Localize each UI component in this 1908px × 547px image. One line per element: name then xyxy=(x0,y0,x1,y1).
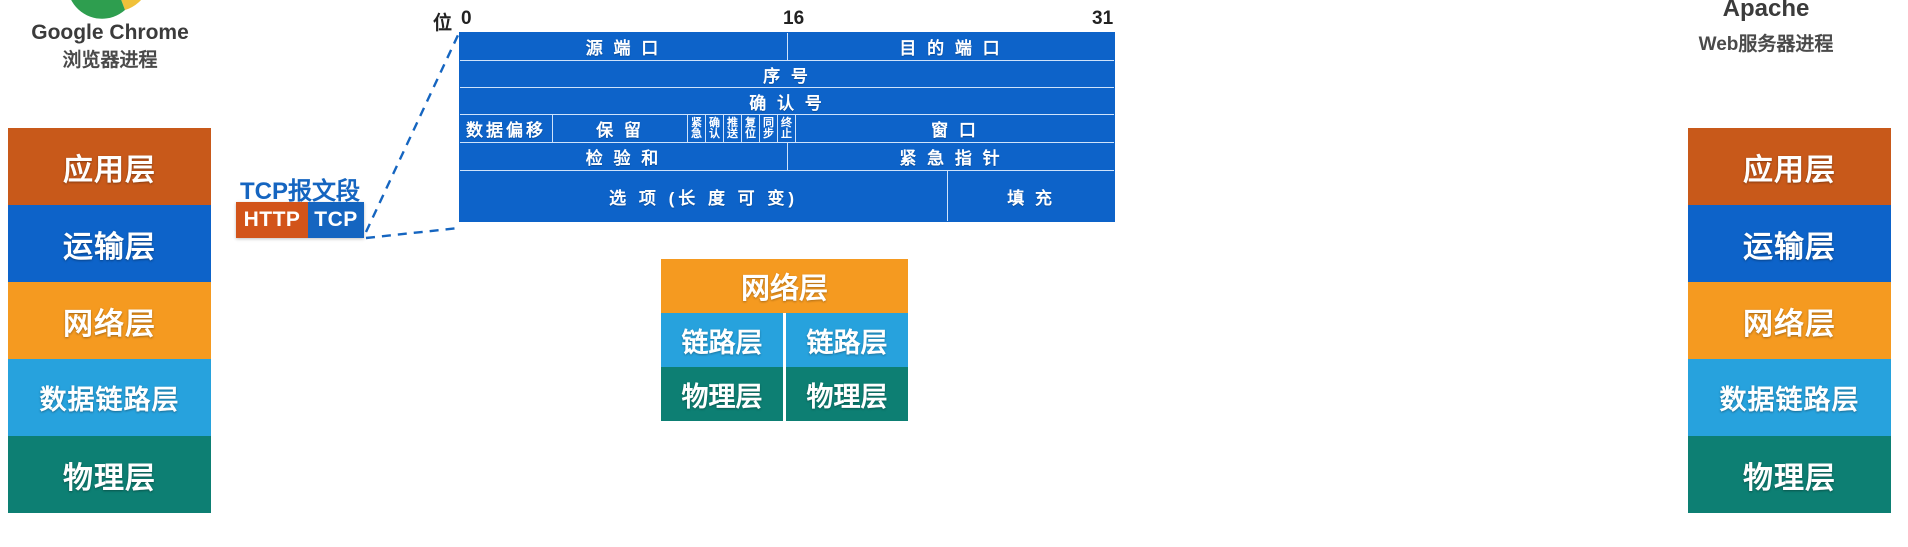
flag-urg-bottom: 急 xyxy=(691,129,702,140)
flag-fin-top: 终 xyxy=(781,118,792,129)
flag-rst: 复 位 xyxy=(741,115,759,142)
router-layer-physical-right[interactable]: 物理层 xyxy=(786,367,908,421)
tcp-header-row-ports: 源 端 口 目 的 端 口 xyxy=(460,33,1114,61)
left-endpoint-caption: Google Chrome 浏览器进程 xyxy=(0,20,260,74)
router-stack: 网络层 链路层 链路层 物理层 物理层 xyxy=(661,259,908,421)
right-layer-application[interactable]: 应用层 xyxy=(1688,128,1891,205)
left-layer-network[interactable]: 网络层 xyxy=(8,282,211,359)
flag-fin: 终 止 xyxy=(777,115,795,142)
right-layer-physical[interactable]: 物理层 xyxy=(1688,436,1891,513)
field-options: 选 项 (长 度 可 变) xyxy=(460,171,947,221)
bit-tick-31: 31 xyxy=(1092,8,1113,30)
tcp-segment-boxes: HTTP TCP xyxy=(236,202,364,238)
bit-tick-16: 16 xyxy=(783,8,804,30)
flag-psh: 推 送 xyxy=(723,115,741,142)
left-layer-physical-label: 物理层 xyxy=(63,453,156,497)
flag-ack-bottom: 认 xyxy=(709,129,720,140)
right-endpoint-name: Apache xyxy=(1616,0,1908,24)
tcp-header-row-options: 选 项 (长 度 可 变) 填 充 xyxy=(460,171,1114,221)
flag-psh-bottom: 送 xyxy=(727,129,738,140)
field-data-offset: 数据偏移 xyxy=(460,115,552,142)
field-reserved: 保 留 xyxy=(552,115,687,142)
right-layer-datalink[interactable]: 数据链路层 xyxy=(1688,359,1891,436)
left-layer-transport-label: 运输层 xyxy=(63,222,156,266)
router-layer-physical-left[interactable]: 物理层 xyxy=(661,367,783,421)
field-ack-number: 确 认 号 xyxy=(460,88,1114,114)
flag-syn-top: 同 xyxy=(763,118,774,129)
left-layer-application-label: 应用层 xyxy=(63,145,156,189)
right-layer-physical-label: 物理层 xyxy=(1743,453,1836,497)
field-window: 窗 口 xyxy=(795,115,1114,142)
tcp-header-row-seq: 序 号 xyxy=(460,61,1114,88)
flag-ack: 确 认 xyxy=(705,115,723,142)
left-layer-transport[interactable]: 运输层 xyxy=(8,205,211,282)
bit-tick-0: 0 xyxy=(461,8,472,30)
field-source-port: 源 端 口 xyxy=(460,33,787,60)
flag-rst-bottom: 位 xyxy=(745,129,756,140)
flag-syn: 同 步 xyxy=(759,115,777,142)
left-protocol-stack: 应用层 运输层 网络层 数据链路层 物理层 xyxy=(8,128,211,513)
field-checksum: 检 验 和 xyxy=(460,143,787,170)
tcp-header-row-ack: 确 认 号 xyxy=(460,88,1114,115)
left-layer-datalink-label: 数据链路层 xyxy=(40,378,180,417)
right-endpoint-subtitle: Web服务器进程 xyxy=(1616,32,1908,58)
router-layer-physical-right-label: 物理层 xyxy=(807,375,888,414)
router-layer-link-left-label: 链路层 xyxy=(682,321,763,360)
right-layer-network-label: 网络层 xyxy=(1743,299,1836,343)
tcp-header-table: 源 端 口 目 的 端 口 序 号 确 认 号 数据偏移 保 留 紧 急 确 认… xyxy=(459,32,1115,222)
left-endpoint-name: Google Chrome xyxy=(0,20,260,46)
field-urgent-pointer: 紧 急 指 针 xyxy=(787,143,1114,170)
left-layer-physical[interactable]: 物理层 xyxy=(8,436,211,513)
left-layer-datalink[interactable]: 数据链路层 xyxy=(8,359,211,436)
right-layer-network[interactable]: 网络层 xyxy=(1688,282,1891,359)
field-padding: 填 充 xyxy=(947,171,1114,221)
router-link-layer-row: 链路层 链路层 xyxy=(661,313,908,367)
left-layer-network-label: 网络层 xyxy=(63,299,156,343)
flag-syn-bottom: 步 xyxy=(763,129,774,140)
http-payload-box[interactable]: HTTP xyxy=(236,202,308,238)
field-dest-port: 目 的 端 口 xyxy=(787,33,1114,60)
router-layer-link-right-label: 链路层 xyxy=(807,321,888,360)
left-endpoint-subtitle: 浏览器进程 xyxy=(0,48,260,74)
router-layer-link-right[interactable]: 链路层 xyxy=(786,313,908,367)
tcp-header-row-checksum: 检 验 和 紧 急 指 针 xyxy=(460,143,1114,171)
right-layer-transport-label: 运输层 xyxy=(1743,222,1836,266)
flag-psh-top: 推 xyxy=(727,118,738,129)
router-physical-layer-row: 物理层 物理层 xyxy=(661,367,908,421)
router-layer-link-left[interactable]: 链路层 xyxy=(661,313,783,367)
router-layer-network-label: 网络层 xyxy=(741,265,828,307)
flag-rst-top: 复 xyxy=(745,118,756,129)
right-layer-transport[interactable]: 运输层 xyxy=(1688,205,1891,282)
tcp-segment-label: TCP报文段 xyxy=(240,171,360,206)
left-layer-application[interactable]: 应用层 xyxy=(8,128,211,205)
flag-urg: 紧 急 xyxy=(687,115,705,142)
flag-ack-top: 确 xyxy=(709,118,720,129)
right-layer-application-label: 应用层 xyxy=(1743,145,1836,189)
right-layer-datalink-label: 数据链路层 xyxy=(1720,378,1860,417)
diagram-canvas: Google Chrome 浏览器进程 应用层 运输层 网络层 数据链路层 物理… xyxy=(0,0,1908,547)
bit-ruler-word: 位 xyxy=(433,8,452,35)
flag-fin-bottom: 止 xyxy=(781,129,792,140)
tcp-header-box[interactable]: TCP xyxy=(308,202,364,238)
tcp-header-row-flags: 数据偏移 保 留 紧 急 确 认 推 送 复 位 同 步 xyxy=(460,115,1114,143)
router-layer-physical-left-label: 物理层 xyxy=(682,375,763,414)
flag-urg-top: 紧 xyxy=(691,118,702,129)
router-layer-network[interactable]: 网络层 xyxy=(661,259,908,313)
field-sequence-number: 序 号 xyxy=(460,61,1114,87)
right-protocol-stack: 应用层 运输层 网络层 数据链路层 物理层 xyxy=(1688,128,1891,513)
right-endpoint-caption: Apache Web服务器进程 xyxy=(1616,0,1908,58)
